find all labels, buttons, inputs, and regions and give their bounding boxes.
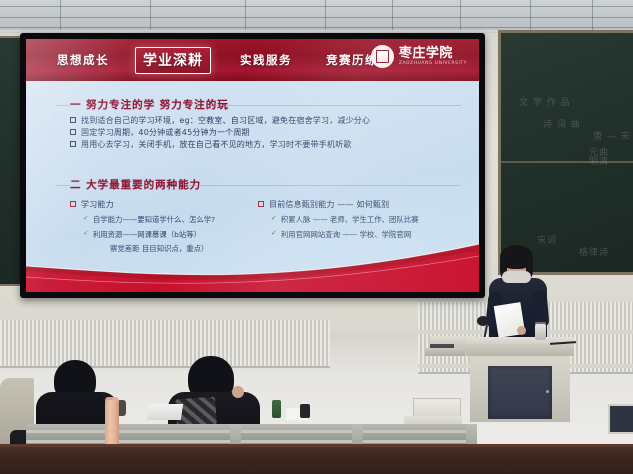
lectern-handle	[546, 390, 549, 393]
dot-bullet-icon: ✓	[83, 214, 89, 223]
university-name: 枣庄学院	[399, 47, 453, 60]
slide-footer-swoosh	[26, 230, 479, 292]
slide-nav-bar: 思想成长 学业深耕 实践服务 竞赛历练 枣庄学院 ZAOZHUANG UNIVE…	[26, 39, 479, 81]
section-2-title: 二 大学最重要的两种能力	[70, 177, 201, 192]
wall-monitor	[608, 404, 633, 434]
wall-radiator-left	[0, 318, 330, 368]
microphone-icon	[477, 316, 489, 326]
checkbox-bullet-icon	[70, 201, 76, 207]
checkbox-bullet-icon	[70, 129, 76, 135]
green-bottle	[272, 400, 281, 418]
wall-display[interactable]: 思想成长 学业深耕 实践服务 竞赛历练 枣庄学院 ZAOZHUANG UNIVE…	[20, 33, 485, 298]
section-1-bullet-2: 固定学习周期，40分钟或者45分钟为一个周期	[81, 127, 250, 138]
nav-item-thought-growth[interactable]: 思想成长	[57, 52, 109, 68]
university-name-sub: ZAOZHUANG UNIVERSITY	[399, 62, 467, 66]
column-1-heading: 学习能力	[81, 199, 114, 210]
side-desk-lower	[425, 348, 465, 356]
lectern-edge	[466, 344, 574, 356]
column-2-heading: 目前信息甄别能力 —— 如何甄别	[269, 199, 389, 210]
front-desk-surface	[0, 447, 633, 474]
section-1-bullet-1: 找到适合自己的学习环境，eg：空教室、自习区域，避免在宿舍学习，减少分心	[81, 115, 370, 126]
lectern-front-panel	[488, 366, 552, 419]
checkbox-bullet-icon	[258, 201, 264, 207]
mobile-phone	[300, 404, 310, 418]
checkbox-bullet-icon	[70, 141, 76, 147]
nav-item-academic-cultivation[interactable]: 学业深耕	[135, 47, 211, 74]
ceiling	[0, 0, 633, 34]
lecture-hall-photo: 文 学 作 品 诗 词 曲 唐 — 宋 元曲 明清 宋词 格律诗 思想成长 学业…	[0, 0, 633, 474]
open-laptop	[147, 404, 183, 420]
section-1-bullet-3: 用用心去学习，关闭手机，放在自己看不见的地方，学习时不要带手机听歌	[81, 139, 352, 150]
slide-content: 一 努力专注的学 努力专注的玩 找到适合自己的学习环境，eg：空教室、自习区域，…	[26, 81, 479, 292]
column-2-item-1: 积累人脉 —— 老师、学生工作、团队比赛	[281, 214, 419, 225]
nav-item-practice-service[interactable]: 实践服务	[240, 52, 292, 68]
column-1-item-1: 自学能力——要知道学什么、怎么学?	[93, 214, 215, 225]
right-chalkboard: 文 学 作 品 诗 词 曲 唐 — 宋 元曲 明清 宋词 格律诗	[498, 30, 633, 275]
section-1-title: 一 努力专注的学 努力专注的玩	[70, 97, 229, 112]
check-bullet-icon: ✓	[271, 214, 277, 223]
tumbler-cup	[535, 324, 546, 340]
university-seal-icon	[371, 45, 394, 68]
checkbox-bullet-icon	[70, 117, 76, 123]
presentation-slide: 思想成长 学业深耕 实践服务 竞赛历练 枣庄学院 ZAOZHUANG UNIVE…	[26, 39, 479, 292]
university-logo: 枣庄学院 ZAOZHUANG UNIVERSITY	[371, 45, 467, 68]
